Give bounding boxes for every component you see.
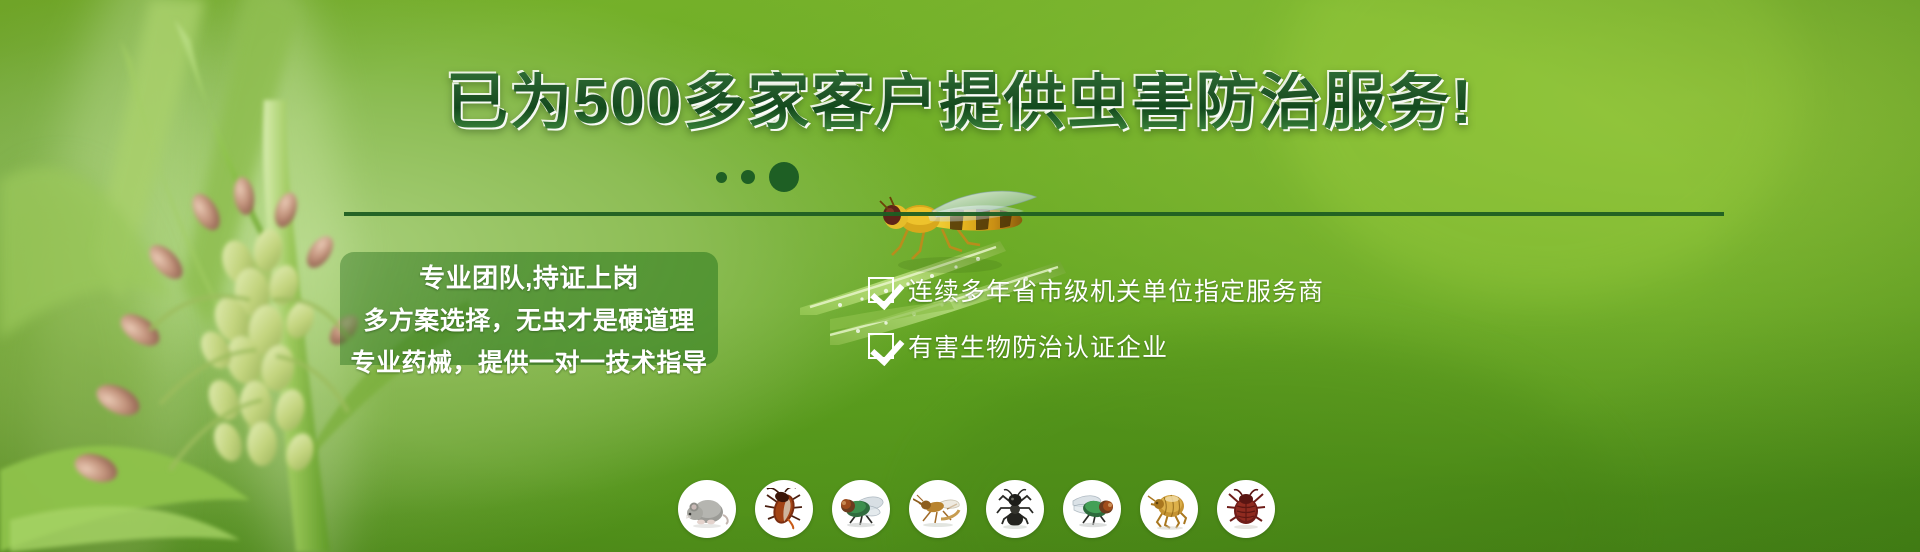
pest-icon-strip [678,480,1275,538]
headline-block: 已为500多家客户提供虫害防治服务! 已为500多家客户提供虫害防治服务! [0,72,1920,134]
pest-control-hero-banner: 已为500多家客户提供虫害防治服务! 已为500多家客户提供虫害防治服务! 专业… [0,0,1920,552]
page-title: 已为500多家客户提供虫害防治服务! [446,72,1474,134]
decor-dot [769,162,799,192]
checkbox-checked-icon [868,333,894,359]
list-item: 有害生物防治认证企业 [868,328,1324,364]
blowfly-icon [832,480,890,538]
mosquito-icon [909,480,967,538]
list-item: 连续多年省市级机关单位指定服务商 [868,272,1324,308]
decorative-dots [716,162,799,192]
checkbox-checked-icon [868,277,894,303]
greenfly-icon [1063,480,1121,538]
credentials-checklist: 连续多年省市级机关单位指定服务商 有害生物防治认证企业 [868,272,1324,364]
feature-panel [340,252,718,365]
mouse-icon [678,480,736,538]
decor-dot [716,172,727,183]
bedbug-icon [1217,480,1275,538]
flea-icon [1140,480,1198,538]
divider-rule [344,212,1724,216]
checklist-label: 连续多年省市级机关单位指定服务商 [908,272,1324,308]
decor-dot [741,170,755,184]
checklist-label: 有害生物防治认证企业 [908,328,1168,364]
ant-icon [986,480,1044,538]
cockroach-icon [755,480,813,538]
